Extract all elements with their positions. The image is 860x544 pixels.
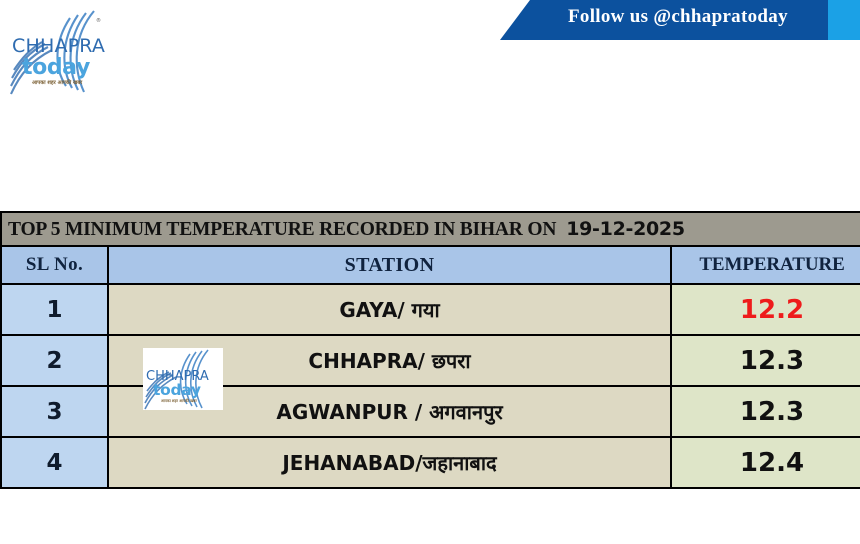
table-row: 1 GAYA/ गया 12.2 [1, 284, 860, 335]
table-title-text: TOP 5 MINIMUM TEMPERATURE RECORDED IN BI… [8, 219, 556, 240]
cell-temperature: 12.3 [671, 335, 860, 386]
banner-accent-strip [828, 0, 860, 40]
svg-text:CHHAPRA: CHHAPRA [12, 35, 105, 57]
follow-us-banner: Follow us @chhapratoday [500, 0, 860, 40]
cell-sl-no: 2 [1, 335, 108, 386]
cell-temperature: 12.4 [671, 437, 860, 488]
table-row: 2 CHHAPRA/ छपरा 12.3 [1, 335, 860, 386]
column-header-temperature: TEMPERATURE [671, 246, 860, 284]
table-row: 4 JEHANABAD/जहानाबाद 12.4 [1, 437, 860, 488]
follow-us-text: Follow us @chhapratoday [568, 0, 820, 40]
chhapra-today-logo: CHHAPRA today आपका शहर आपकी खबर ® [8, 8, 113, 96]
cell-sl-no: 4 [1, 437, 108, 488]
cell-station: AGWANPUR / अगवानपुर [108, 386, 671, 437]
table-header-row: SL No. STATION TEMPERATURE [1, 246, 860, 284]
table-row: 3 AGWANPUR / अगवानपुर 12.3 [1, 386, 860, 437]
cell-station: CHHAPRA/ छपरा [108, 335, 671, 386]
svg-text:today: today [22, 55, 90, 80]
table-title-date: 19-12-2025 [566, 218, 685, 240]
cell-temperature: 12.2 [671, 284, 860, 335]
temperature-table-container: TOP 5 MINIMUM TEMPERATURE RECORDED IN BI… [0, 211, 860, 489]
cell-station: JEHANABAD/जहानाबाद [108, 437, 671, 488]
cell-sl-no: 3 [1, 386, 108, 437]
svg-text:आपका शहर आपकी खबर: आपका शहर आपकी खबर [32, 79, 83, 86]
svg-text:®: ® [96, 17, 101, 24]
table-title-row: TOP 5 MINIMUM TEMPERATURE RECORDED IN BI… [1, 212, 860, 246]
column-header-station: STATION [108, 246, 671, 284]
cell-sl-no: 1 [1, 284, 108, 335]
column-header-sl-no: SL No. [1, 246, 108, 284]
cell-station: GAYA/ गया [108, 284, 671, 335]
table-title-cell: TOP 5 MINIMUM TEMPERATURE RECORDED IN BI… [1, 212, 860, 246]
cell-temperature: 12.3 [671, 386, 860, 437]
temperature-table: TOP 5 MINIMUM TEMPERATURE RECORDED IN BI… [0, 211, 860, 489]
